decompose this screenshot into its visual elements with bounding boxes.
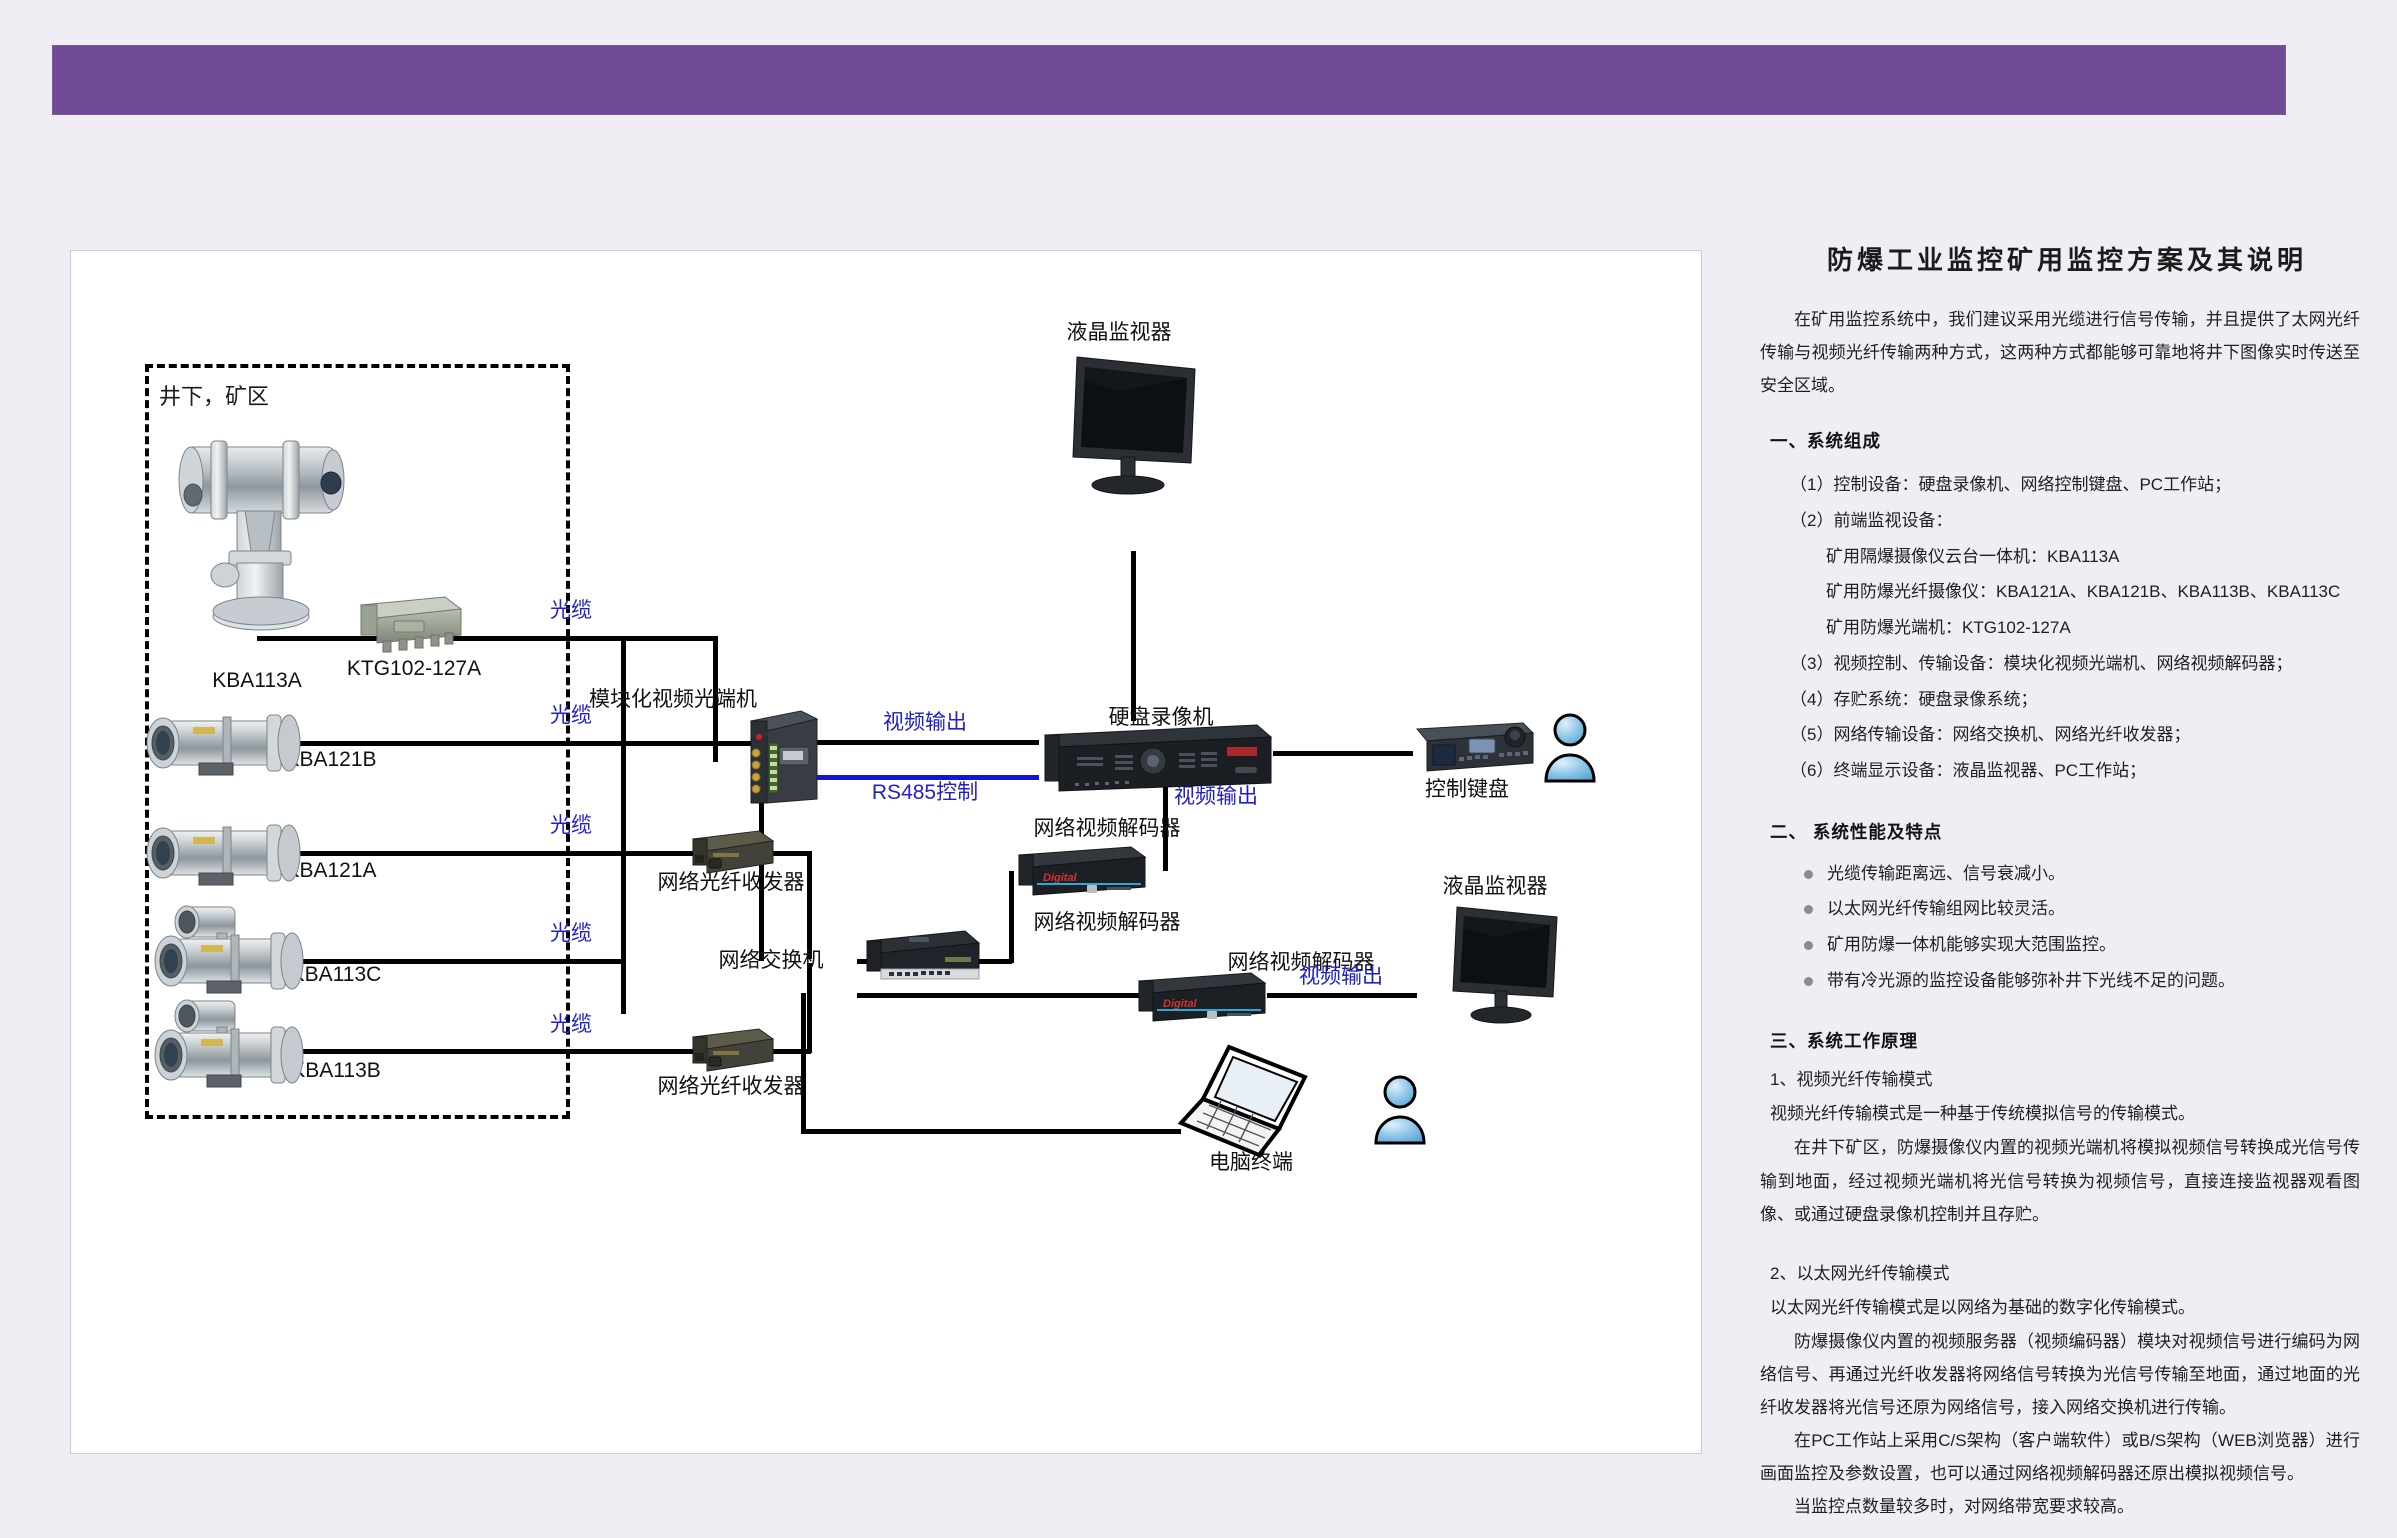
wire-switch-to-decoder2 bbox=[857, 993, 1147, 998]
device-label-lcd-bottom: 液晶监视器 bbox=[1443, 875, 1548, 898]
section3-mode2-heading: 2、以太网光纤传输模式 bbox=[1770, 1257, 2360, 1291]
wire-rs485-optical-to-dvr bbox=[811, 775, 1039, 780]
bullet-dot-icon bbox=[1804, 941, 1813, 950]
article-intro: 在矿用监控系统中，我们建议采用光缆进行信号传输，并且提供了太网光纤传输与视频光纤… bbox=[1760, 303, 2360, 402]
explosion-proof-camera-icon bbox=[139, 813, 314, 893]
optical-terminal-icon bbox=[743, 707, 823, 813]
article-title: 防爆工业监控矿用监控方案及其说明 bbox=[1774, 240, 2360, 277]
operator-person-icon bbox=[1539, 711, 1601, 783]
wire-mc2-riser bbox=[807, 963, 812, 1053]
device-label-decoder-1: 网络视频解码器 bbox=[1034, 817, 1181, 840]
device-label-decoder-2: 网络视频解码器 bbox=[1034, 911, 1181, 934]
wire-video-out-optical-to-dvr bbox=[811, 740, 1039, 745]
list-item: 光缆传输距离远、信号衰减小。 bbox=[1804, 856, 2360, 892]
bullet-dot-icon bbox=[1804, 905, 1813, 914]
section3-mode2-p4: 当监控点数量较多时，对网络带宽要求较高。 bbox=[1760, 1490, 2360, 1524]
bullet-dot-icon bbox=[1804, 870, 1813, 879]
section3-mode1-p2: 在井下矿区，防爆摄像仪内置的视频光端机将模拟视频信号转换成光信号传输到地面，经过… bbox=[1760, 1131, 2360, 1230]
section2-heading: 二、 系统性能及特点 bbox=[1770, 819, 2360, 844]
section1-heading: 一、系统组成 bbox=[1770, 428, 2360, 453]
cable-label-rowE: 光缆 bbox=[550, 1013, 592, 1036]
section3-heading: 三、系统工作原理 bbox=[1770, 1028, 2360, 1053]
ptz-camera-icon bbox=[171, 411, 351, 641]
mine-area-label: 井下，矿区 bbox=[159, 379, 269, 411]
section1-subitem-1: 矿用隔爆摄像仪云台一体机：KBA113A bbox=[1826, 539, 2360, 575]
lcd-monitor-icon bbox=[1443, 901, 1569, 1029]
cable-label-rowB: 光缆 bbox=[550, 704, 592, 727]
section1-subitem-2: 矿用防爆光纤摄像仪：KBA121A、KBA121B、KBA113B、KBA113… bbox=[1826, 574, 2360, 610]
media-converter-icon bbox=[685, 827, 779, 879]
header-band bbox=[52, 45, 2286, 115]
bullet-dot-icon bbox=[1804, 977, 1813, 986]
device-label-switch: 网络交换机 bbox=[719, 949, 824, 972]
list-item: 带有冷光源的监控设备能够弥补井下光线不足的问题。 bbox=[1804, 963, 2360, 999]
video-decoder-icon: Digital bbox=[1129, 969, 1271, 1025]
wire-dvr-to-lcd-top bbox=[1131, 611, 1136, 721]
article-column: 防爆工业监控矿用监控方案及其说明 在矿用监控系统中，我们建议采用光缆进行信号传输… bbox=[1760, 240, 2360, 1524]
cable-label-rowC: 光缆 bbox=[550, 814, 592, 837]
control-keyboard-icon bbox=[1411, 715, 1537, 777]
section1-item-5: （5）网络传输设备：网络交换机、网络光纤收发器； bbox=[1790, 717, 2360, 753]
wire-decoder2-to-lcd bbox=[1267, 993, 1417, 998]
junction-box-icon bbox=[349, 591, 467, 659]
signal-label-video-out-1: 视频输出 bbox=[883, 711, 967, 734]
camera-with-light-icon bbox=[139, 993, 319, 1093]
section1-subitem-3: 矿用防爆光端机：KTG102-127A bbox=[1826, 610, 2360, 646]
device-label-optical-terminal: 模块化视频光端机 bbox=[589, 688, 757, 711]
section1-item-4: （4）存贮系统：硬盘录像系统； bbox=[1790, 682, 2360, 718]
section1-item-6: （6）终端显示设备：液晶监视器、PC工作站； bbox=[1790, 753, 2360, 789]
cable-label-rowD: 光缆 bbox=[550, 922, 592, 945]
media-converter-icon bbox=[685, 1025, 779, 1077]
diagram-panel: 井下，矿区 bbox=[70, 250, 1702, 1454]
section3-mode2-p3: 在PC工作站上采用C/S架构（客户端软件）或B/S架构（WEB浏览器）进行画面监… bbox=[1760, 1424, 2360, 1490]
camera-with-light-icon bbox=[139, 899, 319, 999]
list-item: 以太网光纤传输组网比较灵活。 bbox=[1804, 891, 2360, 927]
wire-switch-down-1 bbox=[801, 993, 806, 1133]
device-label-ktg102: KTG102-127A bbox=[347, 657, 481, 680]
signal-label-video-out-3: 视频输出 bbox=[1299, 965, 1383, 988]
section1-item-1: （1）控制设备：硬盘录像机、网络控制键盘、PC工作站； bbox=[1790, 467, 2360, 503]
signal-label-rs485: RS485控制 bbox=[872, 781, 978, 804]
device-label-media-converter-2: 网络光纤收发器 bbox=[658, 1075, 805, 1098]
laptop-icon bbox=[1175, 1043, 1335, 1167]
operator-person-icon bbox=[1369, 1073, 1431, 1145]
list-item: 矿用防爆一体机能够实现大范围监控。 bbox=[1804, 927, 2360, 963]
diagram-stage: 井下，矿区 bbox=[71, 251, 1701, 1453]
svg-text:Digital: Digital bbox=[1163, 998, 1198, 1010]
dvr-icon bbox=[1031, 721, 1275, 797]
wire-mc1-riser bbox=[807, 851, 812, 959]
lcd-monitor-icon bbox=[1059, 351, 1207, 501]
network-switch-icon bbox=[853, 925, 985, 993]
section3-mode2-p2: 防爆摄像仪内置的视频服务器（视频编码器）模块对视频信号进行编码为网络信号、再通过… bbox=[1760, 1325, 2360, 1424]
wire-ktg102-to-riser bbox=[446, 636, 718, 641]
device-label-lcd-top: 液晶监视器 bbox=[1067, 321, 1172, 344]
section3-mode1-p1: 视频光纤传输模式是一种基于传统模拟信号的传输模式。 bbox=[1770, 1097, 2360, 1131]
cable-label-rowA: 光缆 bbox=[550, 599, 592, 622]
section1-item-3: （3）视频控制、传输设备：模块化视频光端机、网络视频解码器； bbox=[1790, 646, 2360, 682]
wire-lcd-top-riser bbox=[1131, 551, 1136, 613]
section2-bullet-3: 矿用防爆一体机能够实现大范围监控。 bbox=[1827, 927, 2116, 963]
section3-mode2-p1: 以太网光纤传输模式是以网络为基础的数字化传输模式。 bbox=[1770, 1291, 2360, 1325]
wire-switch-to-pc bbox=[801, 1129, 1181, 1134]
section2-bullet-2: 以太网光纤传输组网比较灵活。 bbox=[1827, 891, 2065, 927]
video-decoder-icon: Digital bbox=[1009, 843, 1151, 899]
section2-bullet-4: 带有冷光源的监控设备能够弥补井下光线不足的问题。 bbox=[1827, 963, 2235, 999]
section2-bullet-1: 光缆传输距离远、信号衰减小。 bbox=[1827, 856, 2065, 892]
device-label-kba113a: KBA113A bbox=[212, 669, 302, 692]
explosion-proof-camera-icon bbox=[139, 703, 314, 783]
wire-dvr-to-keyboard bbox=[1273, 751, 1413, 756]
section3-mode1-heading: 1、视频光纤传输模式 bbox=[1770, 1063, 2360, 1097]
section1-item-2: （2）前端监视设备： bbox=[1790, 503, 2360, 539]
svg-text:Digital: Digital bbox=[1043, 872, 1078, 884]
device-label-keyboard: 控制键盘 bbox=[1425, 778, 1509, 801]
